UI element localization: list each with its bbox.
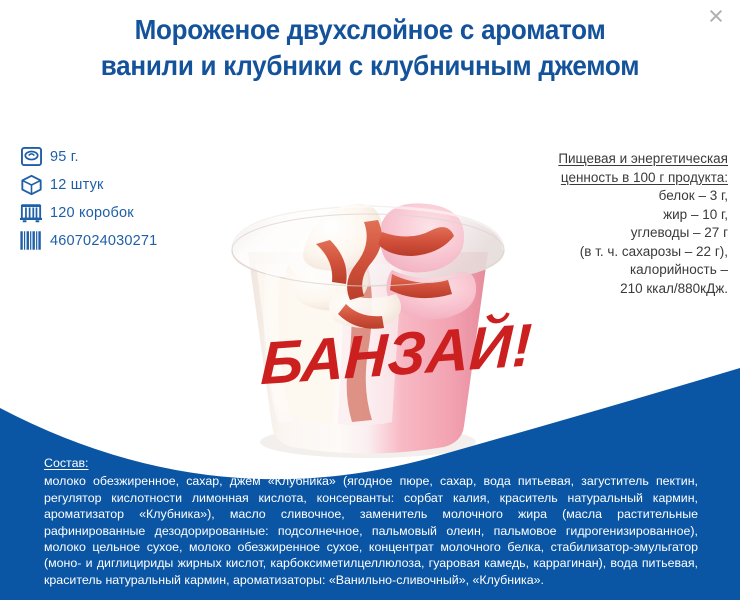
nutrition-calories-value: 210 ккал/880кДж. [513,280,728,299]
product-info-card: БАНЗАЙ! Мороженое двухслойное с ароматом… [0,0,740,600]
ingredients-block: Состав: молоко обезжиренное, сахар, джем… [44,455,698,588]
scale-icon [18,145,44,168]
nutrition-sucrose: (в т. ч. сахарозы – 22 г), [513,243,728,262]
nutrition-heading-line-1: Пищевая и энергетическая [513,150,728,169]
product-specs-list: 95 г. 12 штук [18,143,157,255]
nutrition-calories-label: калорийность – [513,261,728,280]
spec-label-barcode: 4607024030271 [50,233,157,249]
spec-label-boxes: 120 коробок [50,205,134,221]
barcode-icon [18,229,44,252]
spec-row-weight: 95 г. [18,143,157,170]
nutrition-fat: жир – 10 г, [513,206,728,225]
nutrition-protein: белок – 3 г, [513,187,728,206]
spec-row-pieces: 12 штук [18,171,157,198]
pallet-icon [18,201,44,224]
close-icon[interactable]: × [702,2,730,30]
page-title: Мороженое двухслойное с ароматом ванили … [26,12,714,84]
nutrition-facts: Пищевая и энергетическая ценность в 100 … [513,150,728,298]
spec-row-boxes: 120 коробок [18,199,157,226]
ingredients-heading: Состав: [44,455,698,471]
spec-label-weight: 95 г. [50,149,79,165]
box-icon [18,173,44,196]
spec-row-barcode: 4607024030271 [18,227,157,254]
spec-label-pieces: 12 штук [50,177,104,193]
title-line-2: ванили и клубники с клубничным джемом [26,48,714,84]
nutrition-carbs: углеводы – 27 г [513,224,728,243]
ingredients-text: молоко обезжиренное, сахар, джем «Клубни… [44,473,698,588]
title-line-1: Мороженое двухслойное с ароматом [26,12,714,48]
nutrition-heading-line-2: ценность в 100 г продукта: [513,169,728,188]
